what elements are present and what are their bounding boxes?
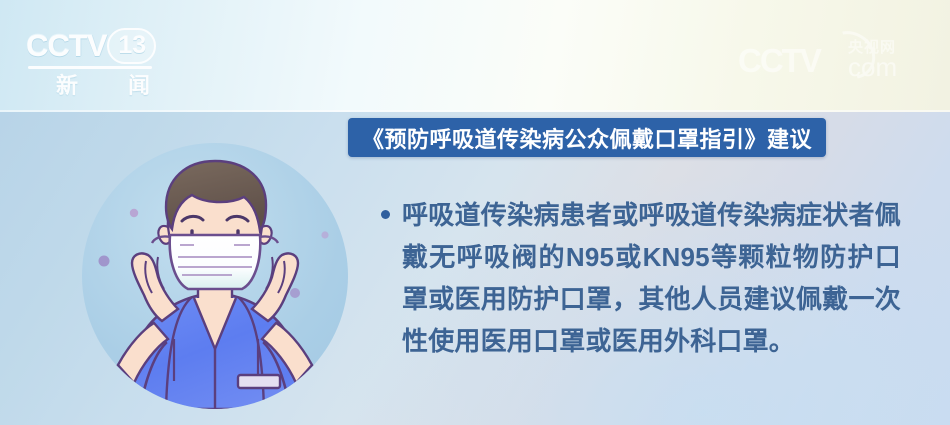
watermark-tld-text: com — [848, 52, 897, 83]
bullet-list-item: 呼吸道传染病患者或呼吸道传染病症状者佩戴无呼吸阀的N95或KN95等颗粒物防护口… — [381, 194, 901, 362]
cctv13-logo-row: CCTV 13 — [26, 28, 156, 64]
channel-name-text: 新 闻 — [56, 68, 164, 100]
illustration-circle — [82, 143, 348, 409]
headline-banner: 《预防呼吸道传染病公众佩戴口罩指引》建议 — [348, 118, 826, 157]
cctv13-logo: CCTV 13 新 闻 — [26, 28, 206, 90]
content-panel: 《预防呼吸道传染病公众佩戴口罩指引》建议 呼吸道传染病患者或呼吸道传染病症状者佩… — [0, 112, 950, 425]
channel-number-badge: 13 — [107, 28, 156, 64]
headline-text: 《预防呼吸道传染病公众佩戴口罩指引》建议 — [362, 122, 812, 154]
watermark-brand-text: CCTV — [738, 42, 820, 80]
cctv-brand-text: CCTV — [26, 28, 106, 64]
broadcast-news-graphic: CCTV 13 新 闻 CCTV 央视网 com — [0, 0, 950, 425]
channel-number-text: 13 — [118, 31, 146, 59]
bullet-dot-icon — [381, 210, 390, 219]
cctv-com-watermark: CCTV 央视网 com — [738, 30, 928, 86]
illustration-badge — [82, 143, 348, 409]
header-band: CCTV 13 新 闻 CCTV 央视网 com — [0, 0, 950, 112]
bullet-text: 呼吸道传染病患者或呼吸道传染病症状者佩戴无呼吸阀的N95或KN95等颗粒物防护口… — [402, 194, 901, 362]
person-wearing-mask-icon — [82, 143, 348, 409]
